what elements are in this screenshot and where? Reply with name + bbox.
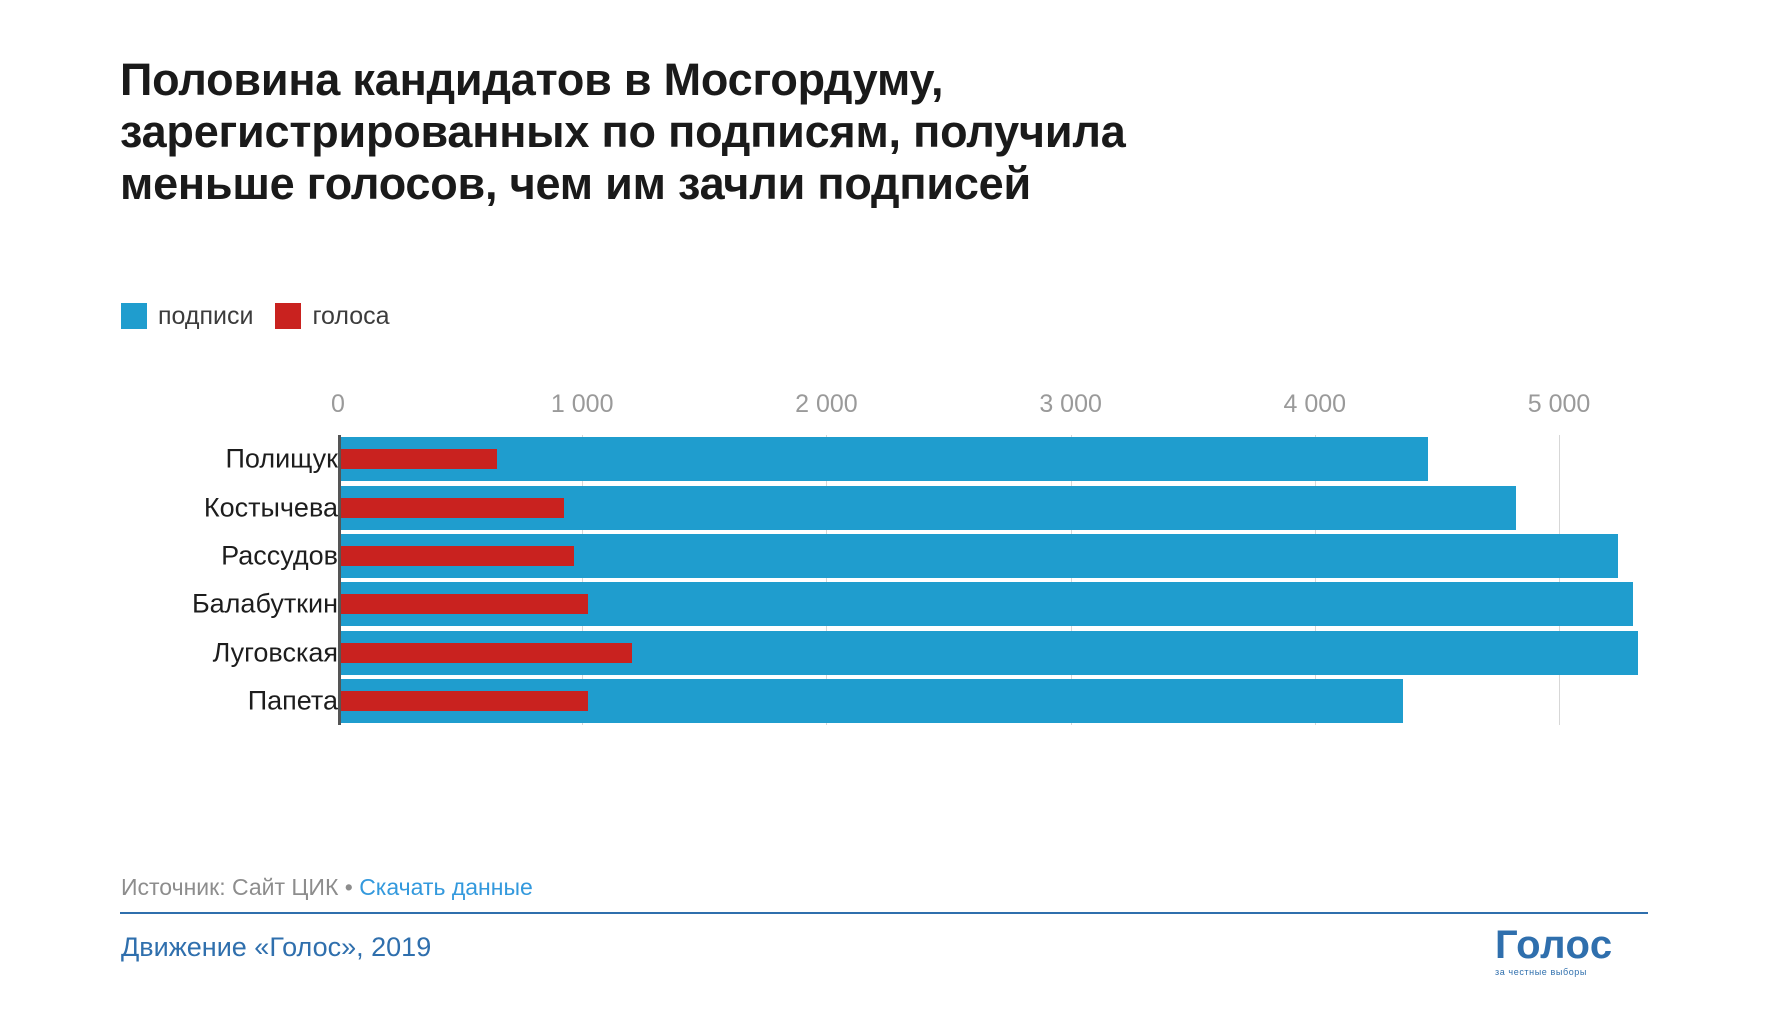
legend-swatch-votes-icon xyxy=(275,303,301,329)
bar-votes[interactable] xyxy=(341,449,497,469)
legend-label-signatures: подписи xyxy=(158,303,253,329)
gridline xyxy=(1559,435,1560,725)
golos-logo: Голос за честные выборы xyxy=(1495,925,1650,985)
bar-signatures[interactable] xyxy=(341,437,1428,481)
y-category-label: Рассудов xyxy=(221,540,338,571)
bar-votes[interactable] xyxy=(341,594,588,614)
y-category-label: Луговская xyxy=(213,637,338,668)
bar-votes[interactable] xyxy=(341,498,564,518)
footer-divider xyxy=(120,912,1648,914)
x-tick-label: 0 xyxy=(331,390,345,419)
logo-wordmark: Голос xyxy=(1495,925,1650,965)
title-line-2: зарегистрированных по подписям, получила xyxy=(120,106,1640,158)
legend-label-votes: голоса xyxy=(312,303,389,329)
title-line-1: Половина кандидатов в Мосгордуму, xyxy=(120,54,1640,106)
source-text: Источник: Сайт ЦИК xyxy=(121,874,338,900)
x-axis-tick-labels: 01 0002 0003 0004 0005 000 xyxy=(120,390,1620,424)
bar-votes[interactable] xyxy=(341,546,574,566)
download-data-link[interactable]: Скачать данные xyxy=(359,874,533,900)
chart-canvas: Половина кандидатов в Мосгордуму, зареги… xyxy=(0,0,1768,1022)
logo-tagline: за честные выборы xyxy=(1495,966,1650,978)
x-tick-label: 2 000 xyxy=(795,390,858,419)
y-category-label: Костычева xyxy=(204,492,338,523)
page-title: Половина кандидатов в Мосгордуму, зареги… xyxy=(120,54,1640,210)
legend-item-votes[interactable]: голоса xyxy=(275,303,389,329)
x-tick-label: 1 000 xyxy=(551,390,614,419)
y-category-label: Полищук xyxy=(226,444,339,475)
y-category-label: Балабуткин xyxy=(192,589,338,620)
x-tick-label: 3 000 xyxy=(1039,390,1102,419)
x-tick-label: 4 000 xyxy=(1284,390,1347,419)
legend-item-signatures[interactable]: подписи xyxy=(121,303,253,329)
x-tick-label: 5 000 xyxy=(1528,390,1591,419)
footer-credit: Движение «Голос», 2019 xyxy=(121,932,431,963)
source-line: Источник: Сайт ЦИК • Скачать данные xyxy=(121,874,533,901)
title-line-3: меньше голосов, чем им зачли подписей xyxy=(120,158,1640,210)
chart-legend: подписи голоса xyxy=(121,303,390,329)
chart-plot-area: 01 0002 0003 0004 0005 000 ПолищукКостыч… xyxy=(120,390,1620,740)
source-separator: • xyxy=(345,874,353,900)
bar-votes[interactable] xyxy=(341,643,632,663)
y-category-label: Папета xyxy=(248,685,338,716)
bar-votes[interactable] xyxy=(341,691,588,711)
plot-grid-area: ПолищукКостычеваРассудовБалабуткинЛуговс… xyxy=(120,435,1620,725)
legend-swatch-signatures-icon xyxy=(121,303,147,329)
